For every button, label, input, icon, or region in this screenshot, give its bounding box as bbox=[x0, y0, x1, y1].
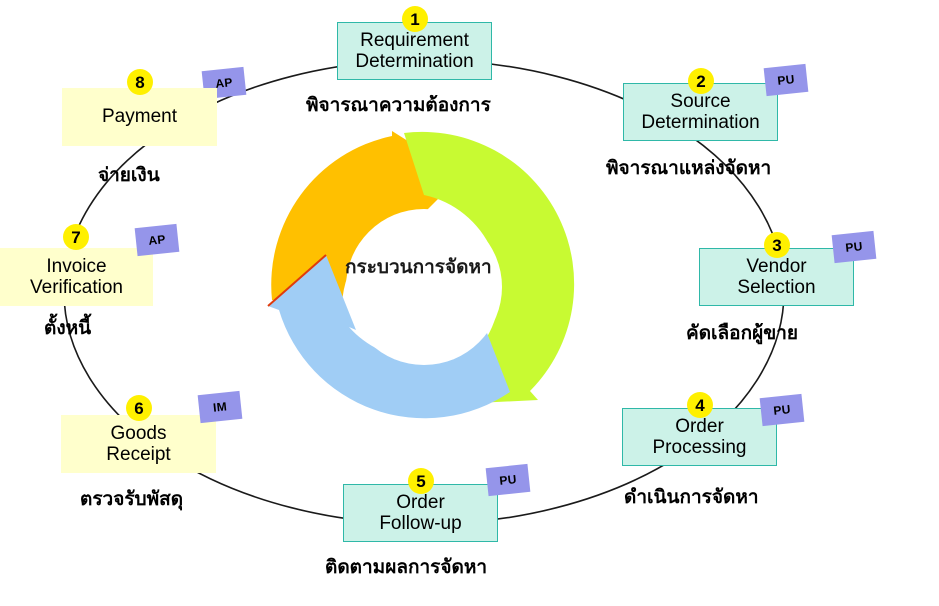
step-7-thai-label: ตั้งหนี้ bbox=[44, 313, 91, 343]
center-title: กระบวนการจัดหา bbox=[345, 252, 492, 282]
step-5-module-badge-pu: PU bbox=[486, 464, 531, 496]
step-3-number-badge: 3 bbox=[764, 232, 790, 258]
step-3-title-line2: Selection bbox=[737, 277, 815, 298]
step-3-module-badge-pu: PU bbox=[832, 231, 877, 263]
step-8-box[interactable]: Payment bbox=[62, 88, 217, 146]
step-1-thai-label: พิจารณาความต้องการ bbox=[306, 90, 491, 120]
step-5-title-line2: Follow-up bbox=[379, 513, 461, 534]
step-1-title-line1: Requirement bbox=[360, 30, 469, 51]
step-1-title-line2: Determination bbox=[355, 51, 473, 72]
step-5-number-badge: 5 bbox=[408, 468, 434, 494]
step-7-title-line1: Invoice bbox=[46, 256, 106, 277]
step-1-number-badge: 1 bbox=[402, 6, 428, 32]
step-6-title-line1: Goods bbox=[111, 423, 167, 444]
step-4-module-badge-pu: PU bbox=[760, 394, 805, 426]
step-7-title-line2: Verification bbox=[30, 277, 123, 298]
step-5-thai-label: ติดตามผลการจัดหา bbox=[325, 552, 487, 582]
step-2-title-line2: Determination bbox=[641, 112, 759, 133]
step-4-title-line1: Order bbox=[675, 416, 724, 437]
step-7-box[interactable]: Invoice Verification bbox=[0, 248, 153, 306]
step-6-number-badge: 6 bbox=[126, 395, 152, 421]
step-5-title-line1: Order bbox=[396, 492, 445, 513]
step-8-title-line1: Payment bbox=[102, 106, 177, 127]
step-8-number-badge: 8 bbox=[127, 69, 153, 95]
step-7-number-badge: 7 bbox=[63, 224, 89, 250]
step-3-thai-label: คัดเลือกผู้ขาย bbox=[686, 318, 798, 348]
step-3-title-line1: Vendor bbox=[746, 256, 806, 277]
step-4-title-line2: Processing bbox=[653, 437, 747, 458]
step-6-box[interactable]: Goods Receipt bbox=[61, 415, 216, 473]
step-4-number-badge: 4 bbox=[687, 392, 713, 418]
center-hole bbox=[346, 209, 502, 365]
step-6-module-badge-im: IM bbox=[198, 391, 243, 423]
step-2-module-badge-pu: PU bbox=[764, 64, 809, 96]
step-2-number-badge: 2 bbox=[688, 68, 714, 94]
step-7-module-badge-ap: AP bbox=[135, 224, 180, 256]
step-6-title-line2: Receipt bbox=[106, 444, 170, 465]
step-2-thai-label: พิจารณาแหล่งจัดหา bbox=[606, 153, 771, 183]
step-6-thai-label: ตรวจรับพัสดุ bbox=[80, 484, 183, 514]
step-8-thai-label: จ่ายเงิน bbox=[98, 160, 160, 190]
procurement-cycle-diagram: กระบวนการจัดหา Requirement Determination… bbox=[0, 0, 939, 606]
step-4-thai-label: ดำเนินการจัดหา bbox=[624, 482, 759, 512]
